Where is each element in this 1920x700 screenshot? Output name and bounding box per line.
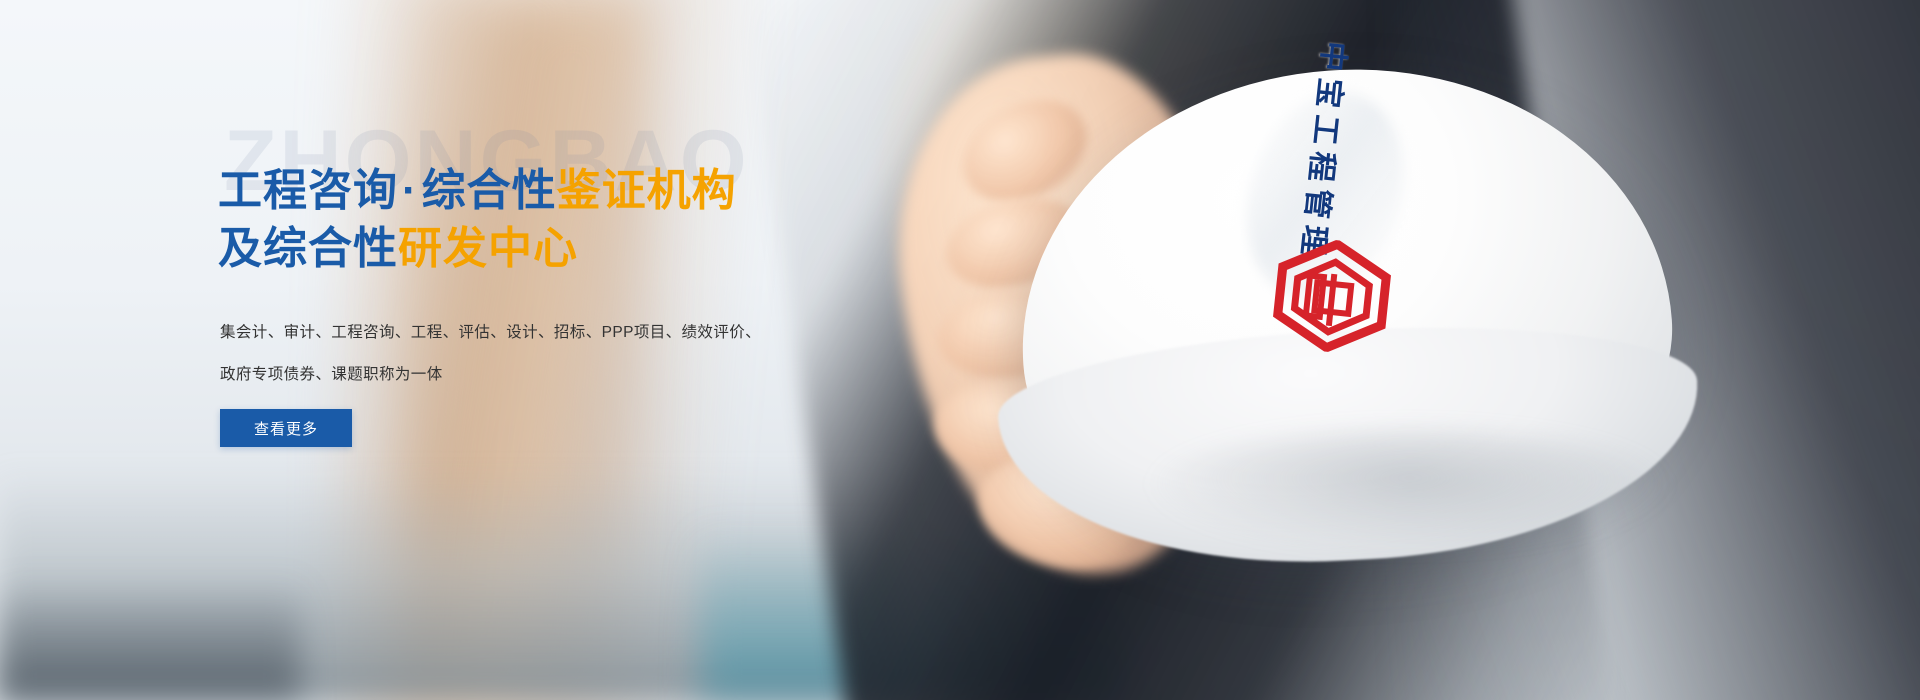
hero-content: ZHONGBAO 工程咨询·综合性鉴证机构 及综合性研发中心 集会计、审计、工程… [218,0,938,700]
headline-group: 工程咨询·综合性鉴证机构 及综合性研发中心 [218,162,938,278]
description-line-2: 政府专项债券、课题职称为一体 [220,354,820,396]
headline-line2-accent: 研发中心 [398,224,578,273]
headline-line2-segment: 及综合性 [218,224,398,273]
view-more-button[interactable]: 查看更多 [220,409,352,447]
description-line-1: 集会计、审计、工程咨询、工程、评估、设计、招标、PPP项目、绩效评价、 [220,312,820,354]
headline-line1-segment-a: 工程咨询 [218,166,398,215]
headline-line1-segment-b: 综合性 [422,166,557,215]
hero-banner: 中宝工程管理 ZHONGBAO 工程咨询·综合性鉴证机构 及综合性研发中心 集会… [0,0,1920,700]
description-block: 集会计、审计、工程咨询、工程、评估、设计、招标、PPP项目、绩效评价、 政府专项… [220,312,820,396]
helmet-shadow [1150,430,1670,550]
headline-line1-accent: 鉴证机构 [557,166,737,215]
headline-line-2: 及综合性研发中心 [218,220,938,278]
headline-separator-dot: · [398,166,422,215]
zhongbao-hexagon-logo-icon [1266,234,1397,358]
headline-line-1: 工程咨询·综合性鉴证机构 [218,162,938,220]
